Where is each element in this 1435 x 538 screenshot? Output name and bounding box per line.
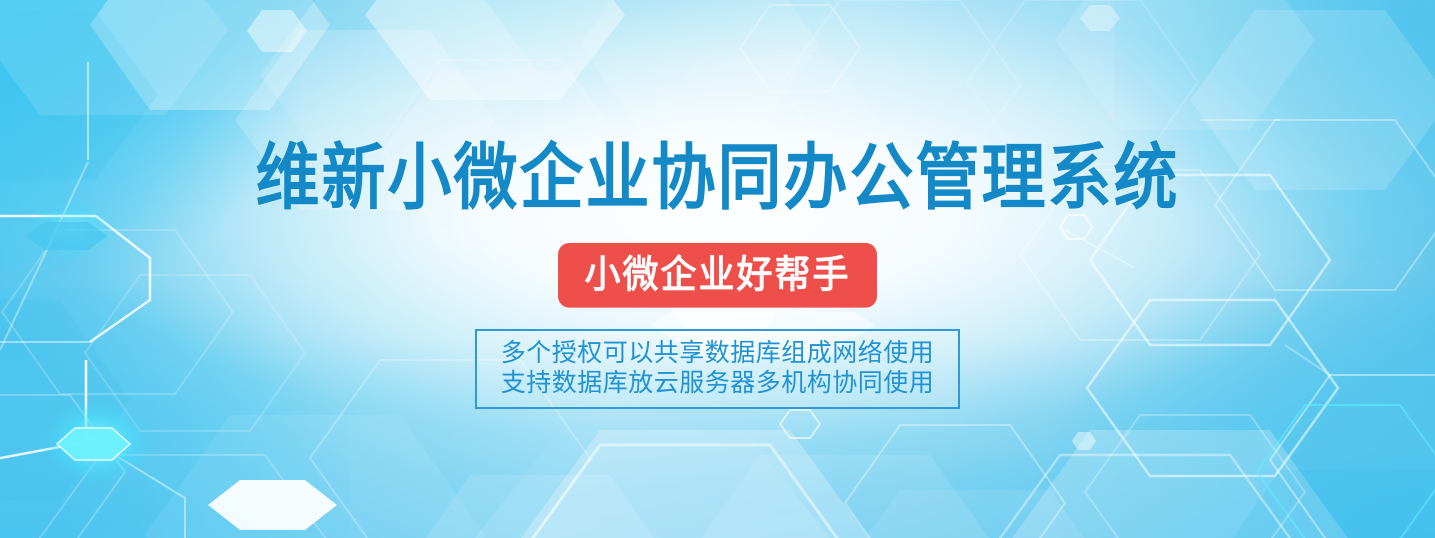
feature-box: 多个授权可以共享数据库组成网络使用 支持数据库放云服务器多机构协同使用 xyxy=(475,329,961,409)
feature-line-1: 多个授权可以共享数据库组成网络使用 xyxy=(501,338,935,368)
hero-banner: 维新小微企业协同办公管理系统 小微企业好帮手 多个授权可以共享数据库组成网络使用… xyxy=(0,0,1435,538)
tagline-badge: 小微企业好帮手 xyxy=(558,243,876,308)
banner-content: 维新小微企业协同办公管理系统 小微企业好帮手 多个授权可以共享数据库组成网络使用… xyxy=(0,0,1435,538)
feature-line-2: 支持数据库放云服务器多机构协同使用 xyxy=(501,368,935,398)
page-title: 维新小微企业协同办公管理系统 xyxy=(256,139,1180,216)
